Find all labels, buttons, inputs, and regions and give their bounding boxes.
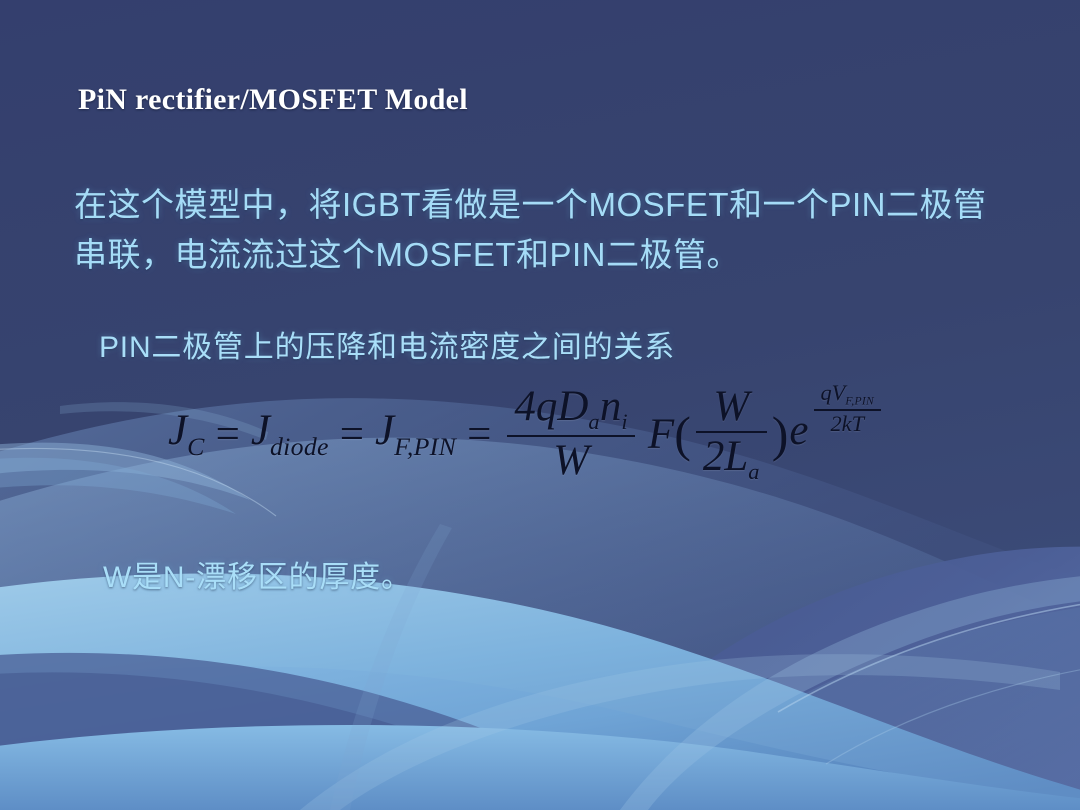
subsection-heading: PIN二极管上的压降和电流密度之间的关系 — [99, 322, 675, 366]
slide-title: PiN rectifier/MOSFET Model — [78, 83, 468, 117]
symbol-j-2: J — [251, 407, 270, 454]
exponent-numerator: qVF,PIN — [814, 380, 882, 409]
symbol-e: e — [789, 406, 808, 455]
current-density-equation: JC = Jdiode = JF,PIN = 4qDani W F ( W 2L — [168, 383, 886, 486]
numerator-4qD: 4qD — [514, 383, 588, 430]
subscript-c: C — [187, 432, 205, 461]
equals-sign-1: = — [216, 410, 240, 459]
paren-close: ) — [772, 405, 789, 463]
fraction-w-over-2La: W 2La — [696, 383, 767, 486]
slide-content: PiN rectifier/MOSFET Model 在这个模型中，将IGBT看… — [0, 0, 1080, 810]
denominator-2L: 2L — [703, 433, 748, 480]
fraction-prefactor: 4qDani W — [507, 383, 635, 486]
exponent-denominator: 2kT — [824, 411, 872, 437]
subscript-diode: diode — [270, 432, 329, 461]
exponent-qV: qV — [821, 380, 846, 405]
fraction2-denominator: 2La — [696, 433, 767, 485]
function-f: F — [648, 410, 674, 459]
equation-term-jc: JC — [168, 406, 205, 462]
numerator-n: n — [600, 383, 622, 430]
numerator-sub-i: i — [621, 409, 628, 434]
fraction-denominator: W — [546, 437, 596, 485]
fraction2-numerator: W — [706, 383, 756, 431]
equation-term-jdiode: Jdiode — [251, 406, 329, 462]
equation-term-jfpin: JF,PIN — [375, 406, 456, 462]
body-paragraph: 在这个模型中，将IGBT看做是一个MOSFET和一个PIN二极管串联，电流流过这… — [74, 180, 994, 280]
numerator-sub-a: a — [588, 409, 599, 434]
symbol-j: J — [168, 407, 187, 454]
paren-open: ( — [674, 405, 691, 463]
exponent-fraction: qVF,PIN 2kT — [814, 380, 882, 437]
exponent: qVF,PIN 2kT — [809, 380, 887, 437]
equals-sign-2: = — [340, 410, 364, 459]
denominator-sub-a: a — [748, 459, 759, 484]
presentation-slide: PiN rectifier/MOSFET Model 在这个模型中，将IGBT看… — [0, 0, 1080, 810]
equals-sign-3: = — [467, 410, 491, 459]
exponential-term: e qVF,PIN 2kT — [789, 406, 886, 463]
subscript-f-pin: F,PIN — [394, 432, 456, 461]
note-line: W是N-漂移区的厚度。 — [103, 552, 412, 596]
symbol-j-3: J — [375, 407, 394, 454]
exponent-sub-f-pin: F,PIN — [845, 394, 874, 407]
fraction-numerator: 4qDani — [507, 383, 635, 435]
